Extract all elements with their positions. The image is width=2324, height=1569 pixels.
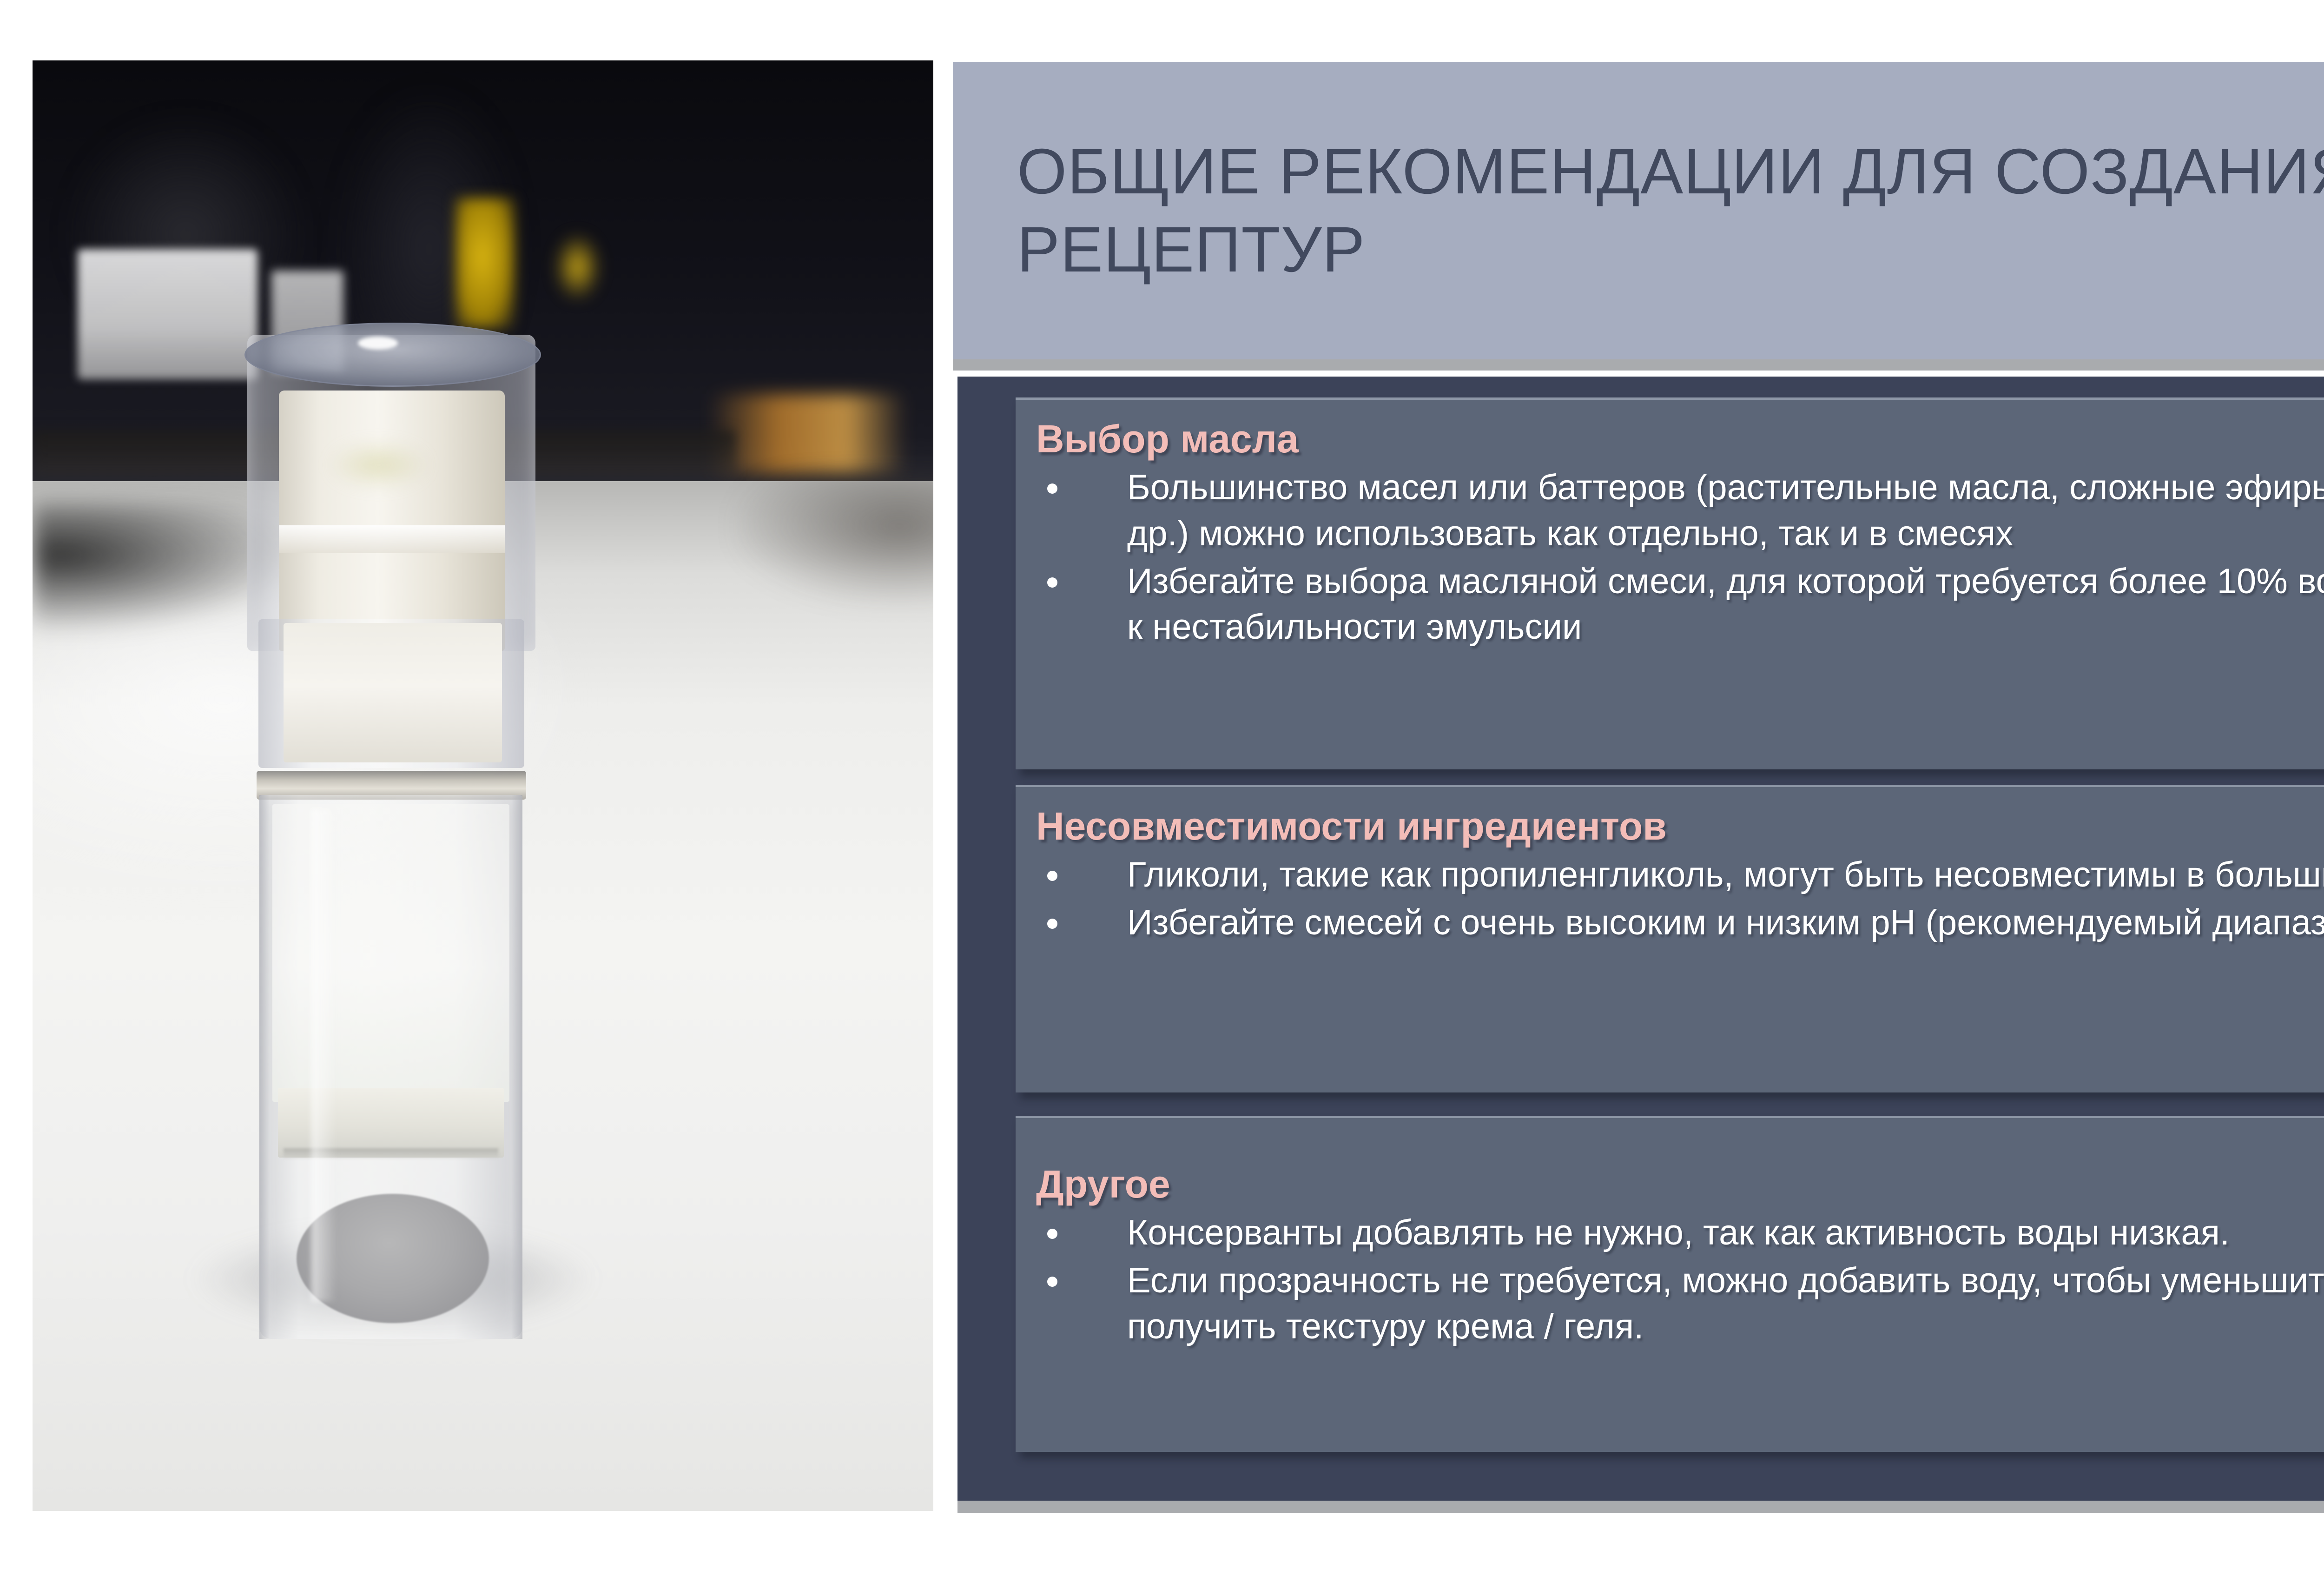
photo-right-shadow xyxy=(735,474,933,604)
bullet-list: Гликоли, такие как пропиленгликоль, могу… xyxy=(1036,852,2324,946)
airless-pump-bottle xyxy=(214,335,567,1371)
card-heading: Несовместимости ингредиентов xyxy=(1036,807,2324,846)
list-item-text: Если прозрачность не требуется, можно до… xyxy=(1127,1261,2324,1346)
card-heading: Другое xyxy=(1036,1165,2324,1204)
list-item: Консерванты добавлять не нужно, так как … xyxy=(1036,1210,2324,1256)
bullet-dot-icon xyxy=(1047,483,1057,494)
bullet-dot-icon xyxy=(1047,1277,1057,1287)
list-item: Избегайте смесей с очень высоким и низки… xyxy=(1036,900,2324,946)
bullet-list: Консерванты добавлять не нужно, так как … xyxy=(1036,1210,2324,1350)
bottle-pump-tint xyxy=(330,442,428,488)
list-item: Гликоли, такие как пропиленгликоль, могу… xyxy=(1036,852,2324,898)
list-item-text: Консерванты добавлять не нужно, так как … xyxy=(1127,1213,2230,1252)
photo-orange-object xyxy=(708,394,906,474)
page-title: ОБЩИЕ РЕКОМЕНДАЦИИ ДЛЯ СОЗДАНИЯ РЕЦЕПТУР xyxy=(1017,132,2324,289)
slide-title-band: ОБЩИЕ РЕКОМЕНДАЦИИ ДЛЯ СОЗДАНИЯ РЕЦЕПТУР xyxy=(953,62,2324,359)
list-item: Избегайте выбора масляной смеси, для кот… xyxy=(1036,559,2324,651)
title-band-shadow-bar xyxy=(953,359,2324,371)
bullet-dot-icon xyxy=(1047,577,1057,588)
bottle-right-edge xyxy=(511,795,522,1339)
bullet-list: Большинство масел или баттеров (растител… xyxy=(1036,465,2324,650)
content-card-other: Другое Консерванты добавлять не нужно, т… xyxy=(1016,1116,2324,1452)
bottle-vertical-highlight xyxy=(311,809,337,1302)
list-item-text: Избегайте выбора масляной смеси, для кот… xyxy=(1127,562,2324,647)
content-card-incompatibilities: Несовместимости ингредиентов Гликоли, та… xyxy=(1016,785,2324,1092)
bottle-pump-band xyxy=(279,525,505,553)
bottle-collar-inner xyxy=(284,623,502,762)
list-item-text: Избегайте смесей с очень высоким и низки… xyxy=(1127,903,2324,942)
photo-yellow-object xyxy=(456,198,515,329)
list-item: Если прозрачность не требуется, можно до… xyxy=(1036,1258,2324,1350)
list-item-text: Гликоли, такие как пропиленгликоль, могу… xyxy=(1127,855,2324,894)
bottle-cap-highlight xyxy=(358,337,398,350)
bottle-left-edge xyxy=(259,795,270,1339)
content-card-oil-selection: Выбор масла Большинство масел или баттер… xyxy=(1016,397,2324,769)
list-item-text: Большинство масел или баттеров (растител… xyxy=(1127,468,2324,553)
bullet-dot-icon xyxy=(1047,871,1057,881)
product-photo xyxy=(33,60,933,1511)
photo-yellow-object-secondary xyxy=(555,234,600,299)
bottle-contents xyxy=(272,804,509,1102)
list-item: Большинство масел или баттеров (растител… xyxy=(1036,465,2324,557)
bottle-cap-top-rim xyxy=(244,323,541,387)
card-heading: Выбор масла xyxy=(1036,419,2324,458)
bottle-pump-head xyxy=(279,391,505,651)
bullet-dot-icon xyxy=(1047,1229,1057,1239)
bullet-dot-icon xyxy=(1047,919,1057,929)
